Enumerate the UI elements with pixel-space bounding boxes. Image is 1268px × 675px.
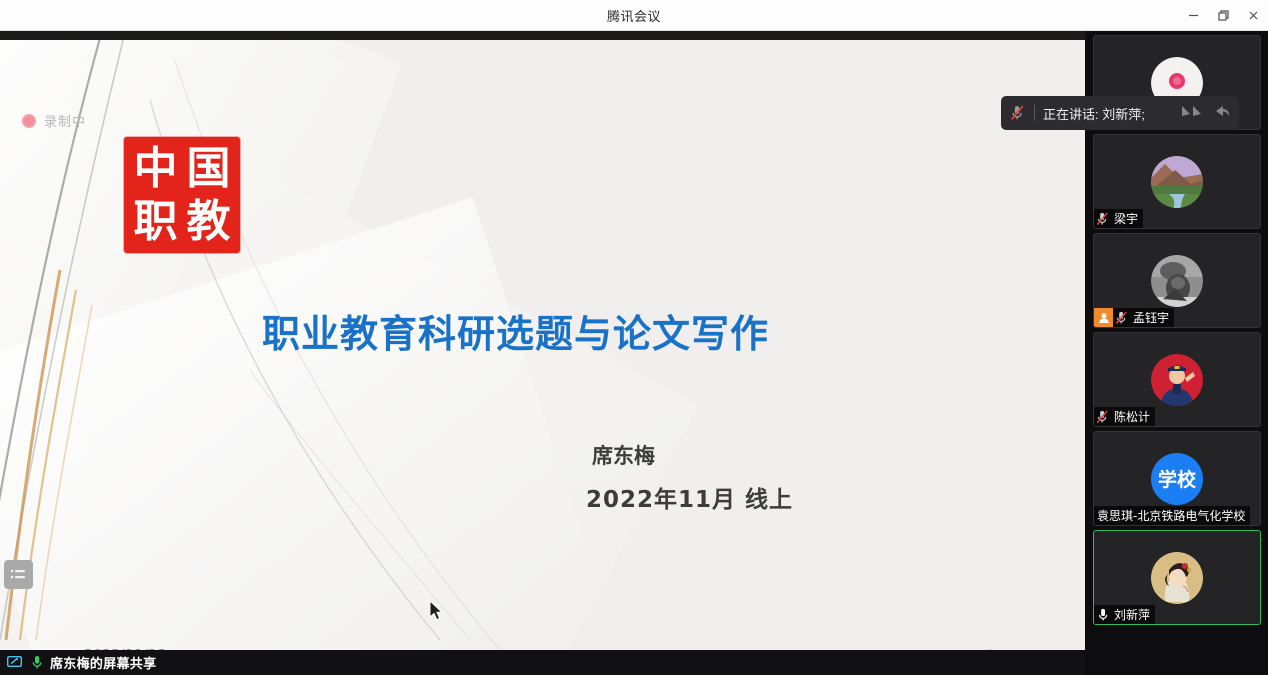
organization-seal-stamp: 中 国 职 教 (124, 137, 240, 253)
window-title-bar: 腾讯会议 (0, 0, 1268, 31)
participant-tile[interactable]: 学校 袁思琪-北京铁路电气化学校 (1093, 431, 1261, 526)
restore-button[interactable] (1208, 0, 1238, 31)
recording-dot-icon (22, 114, 36, 128)
participant-tile-footer: 刘新萍 (1094, 605, 1155, 624)
microphone-on-icon (28, 653, 45, 672)
toast-divider (1034, 105, 1035, 121)
avatar (1151, 552, 1203, 604)
participant-name: 孟钰宇 (1130, 309, 1169, 326)
meeting-body: 中 国 职 教 职业教育科研选题与论文写作 席东梅 2022年11月 线上 中国… (0, 31, 1268, 675)
screen-share-icon (6, 653, 23, 672)
annotation-list-button[interactable] (4, 560, 33, 589)
window-controls (1178, 0, 1268, 31)
shared-screen-region[interactable]: 中 国 职 教 职业教育科研选题与论文写作 席东梅 2022年11月 线上 中国… (0, 31, 1085, 675)
presentation-slide: 中 国 职 教 职业教育科研选题与论文写作 席东梅 2022年11月 线上 中国… (0, 40, 1085, 650)
active-speaker-toast: 正在讲话: 刘新萍; (1001, 96, 1239, 130)
seal-char-3: 职 (129, 195, 182, 248)
seal-char-4: 教 (182, 195, 235, 248)
screen-share-owner-label: 席东梅的屏幕共享 (50, 653, 156, 672)
participant-tile[interactable]: 陈松计 (1093, 332, 1261, 427)
avatar (1151, 354, 1203, 406)
participant-tile-footer: 孟钰宇 (1094, 308, 1174, 327)
seal-char-1: 中 (129, 142, 182, 195)
microphone-muted-icon (1009, 104, 1026, 123)
slide-date-line: 2022年11月 线上 (586, 480, 793, 514)
participant-tile[interactable]: 梁宇 (1093, 134, 1261, 229)
host-badge-icon (1094, 308, 1113, 327)
avatar: 学校 (1151, 453, 1203, 505)
slide-presenter-name: 席东梅 (592, 440, 655, 470)
participant-name: 刘新萍 (1111, 606, 1150, 623)
toast-actions[interactable] (1182, 103, 1231, 124)
microphone-muted-icon (1094, 209, 1111, 228)
microphone-muted-icon (1113, 308, 1130, 327)
mouse-cursor (430, 601, 446, 623)
window-title: 腾讯会议 (607, 6, 661, 25)
participant-tile[interactable]: 孟钰宇 (1093, 233, 1261, 328)
participant-tile-footer: 袁思琪-北京铁路电气化学校 (1094, 506, 1250, 525)
seal-char-2: 国 (182, 142, 235, 195)
screen-share-status-bar: 席东梅的屏幕共享 (0, 650, 1085, 675)
slide-title: 职业教育科研选题与论文写作 (262, 303, 822, 358)
participant-name: 陈松计 (1111, 408, 1150, 425)
minimize-button[interactable] (1178, 0, 1208, 31)
participant-tile-footer: 陈松计 (1094, 407, 1155, 426)
active-speaker-label: 正在讲话: 刘新萍; (1043, 104, 1145, 123)
participant-tile-footer: 梁宇 (1094, 209, 1143, 228)
participant-name: 梁宇 (1111, 210, 1138, 227)
participant-tile[interactable]: 刘新萍 (1093, 530, 1261, 625)
microphone-on-icon (1094, 605, 1111, 624)
close-button[interactable] (1238, 0, 1268, 31)
avatar (1151, 255, 1203, 307)
return-icon[interactable] (1213, 103, 1231, 124)
collapse-icon[interactable] (1182, 103, 1208, 124)
participant-name: 袁思琪-北京铁路电气化学校 (1094, 507, 1245, 524)
avatar (1151, 156, 1203, 208)
microphone-muted-icon (1094, 407, 1111, 426)
recording-label: 录制中 (44, 111, 86, 130)
recording-indicator: 录制中 (22, 111, 86, 130)
